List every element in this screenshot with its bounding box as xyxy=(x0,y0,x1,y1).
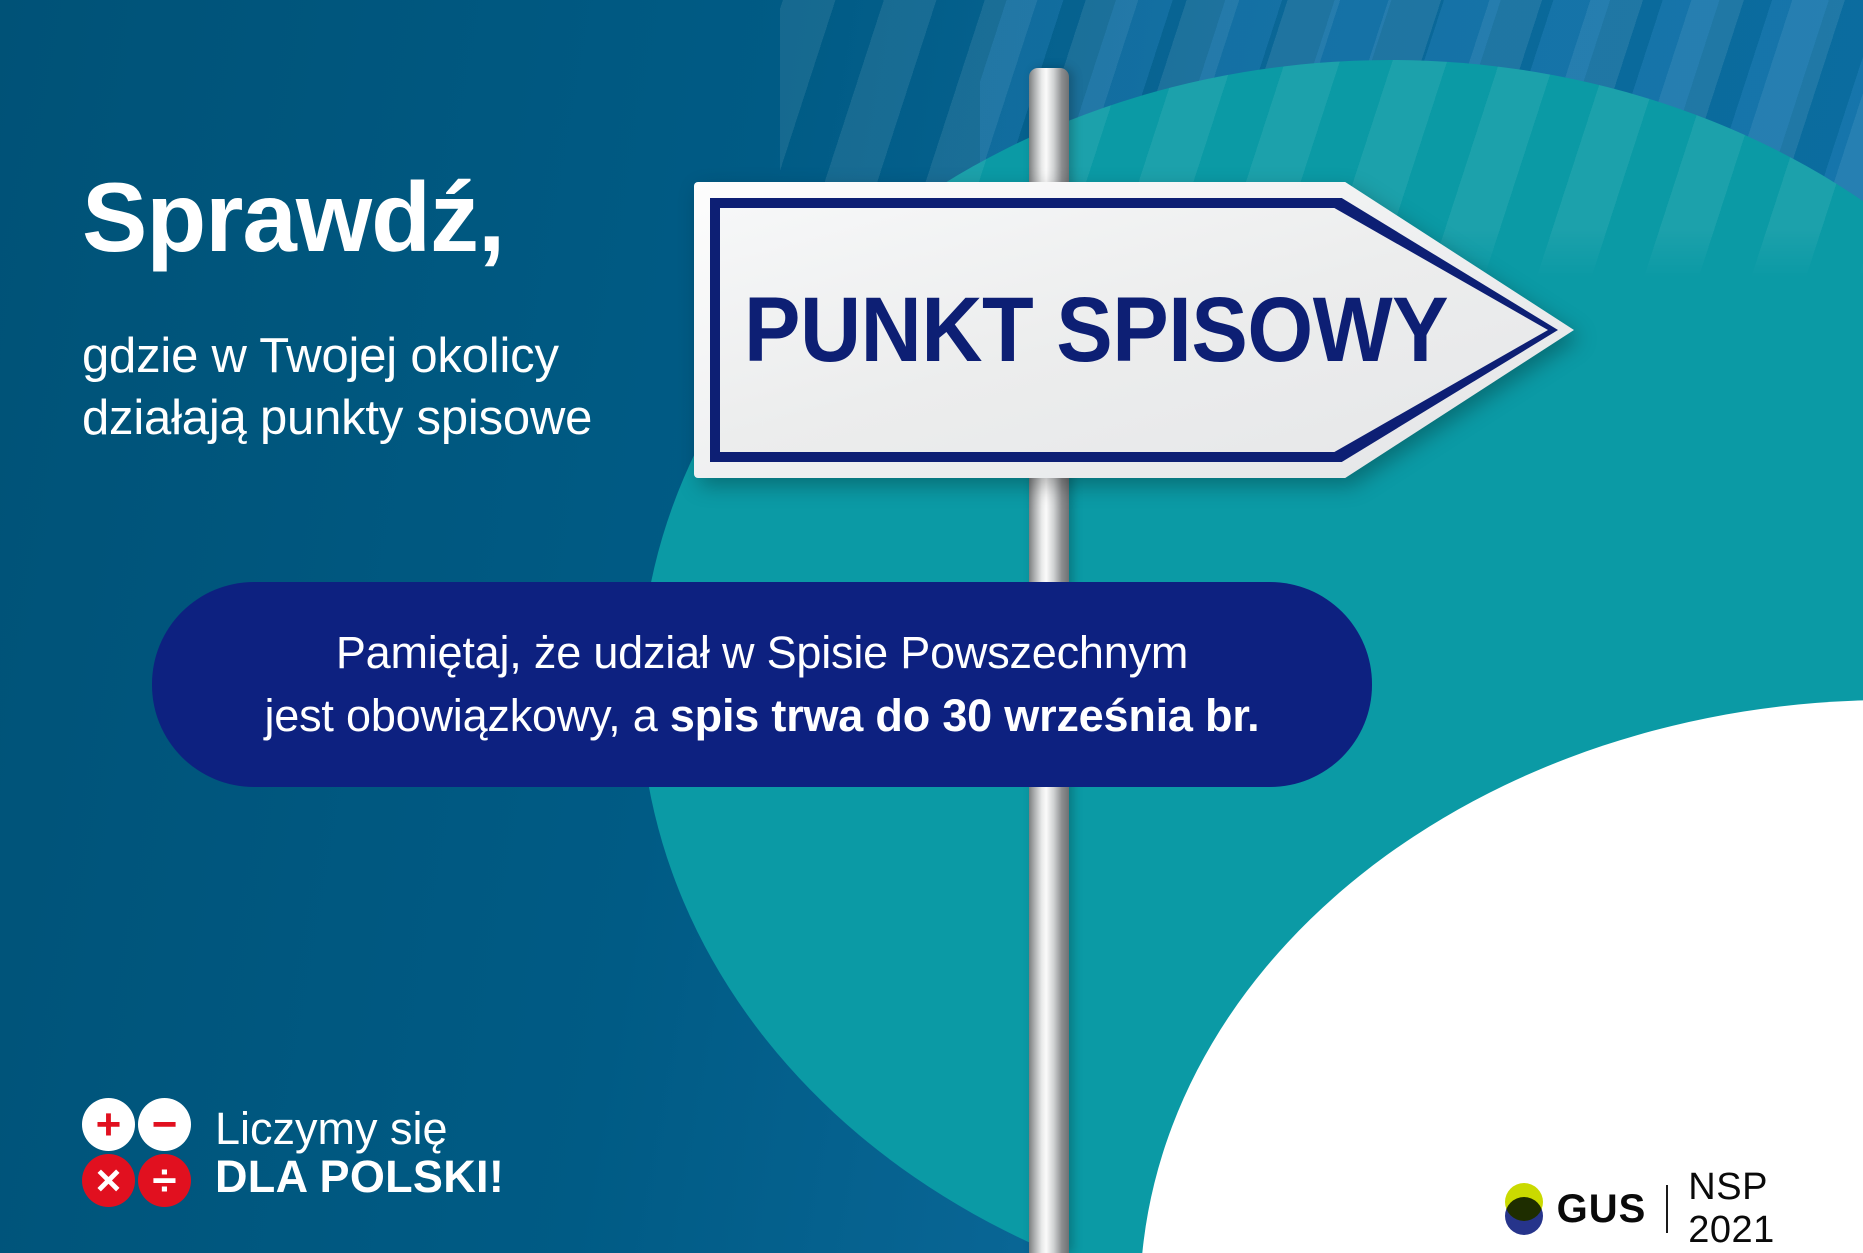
message-banner: Pamiętaj, że udział w Spisie Powszechnym… xyxy=(152,582,1372,787)
campaign-slogan-line-2: DLA POLSKI! xyxy=(215,1153,504,1201)
plus-icon: + xyxy=(82,1098,135,1151)
page-title: Sprawdź, xyxy=(82,166,504,269)
direction-sign: PUNKT SPISOWY xyxy=(694,182,1574,478)
message-line-2: jest obowiązkowy, a spis trwa do 30 wrze… xyxy=(265,685,1260,747)
subtitle-line-1: gdzie w Twojej okolicy xyxy=(82,325,592,387)
gus-wordmark: GUS xyxy=(1557,1187,1647,1232)
campaign-logo-text: Liczymy się DLA POLSKI! xyxy=(215,1105,504,1200)
campaign-slogan-line-1: Liczymy się xyxy=(215,1105,504,1153)
message-line-2-plain: jest obowiązkowy, a xyxy=(265,690,670,741)
poster-canvas: PUNKT SPISOWY Sprawdź, gdzie w Twojej ok… xyxy=(0,0,1863,1253)
message-line-2-bold: spis trwa do 30 września br. xyxy=(670,690,1260,741)
nsp-year-label: NSP 2021 xyxy=(1688,1166,1863,1252)
multiply-icon: × xyxy=(82,1154,135,1207)
sign-label-text: PUNKT SPISOWY xyxy=(744,182,1448,478)
gus-circles-icon xyxy=(1505,1183,1543,1235)
math-symbol-grid: + − × ÷ xyxy=(82,1098,191,1207)
campaign-logo: + − × ÷ Liczymy się DLA POLSKI! xyxy=(82,1098,504,1207)
subtitle-line-2: działają punkty spisowe xyxy=(82,387,592,449)
gus-divider xyxy=(1666,1185,1668,1233)
page-subtitle: gdzie w Twojej okolicy działają punkty s… xyxy=(82,325,592,449)
gus-logo: GUS NSP 2021 xyxy=(1505,1166,1863,1252)
gus-circle-bottom xyxy=(1505,1197,1543,1235)
minus-icon: − xyxy=(138,1098,191,1151)
message-line-1: Pamiętaj, że udział w Spisie Powszechnym xyxy=(336,622,1188,684)
divide-icon: ÷ xyxy=(138,1154,191,1207)
